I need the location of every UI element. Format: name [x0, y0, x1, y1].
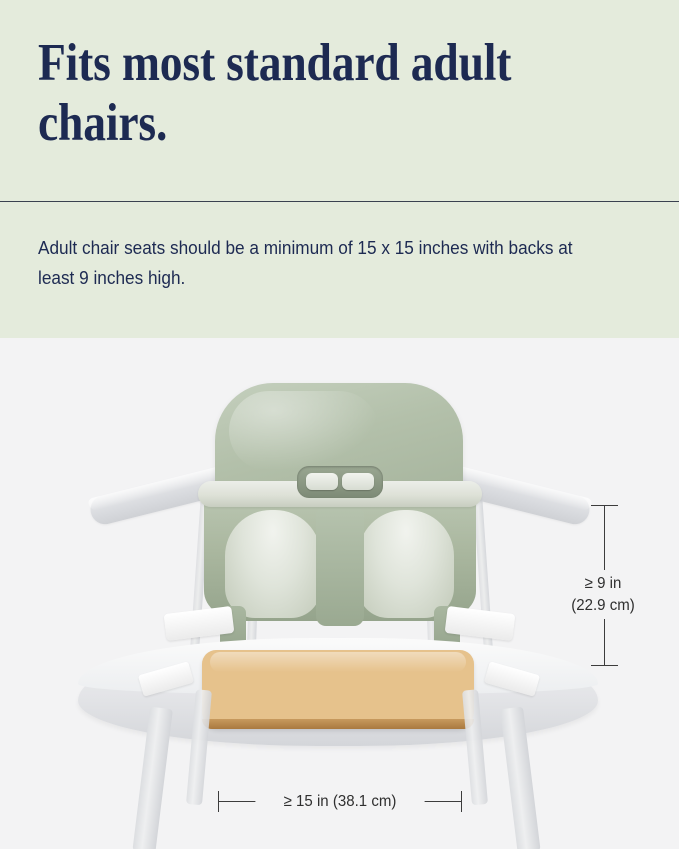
panel-description: Adult chair seats should be a minimum of…	[38, 233, 596, 293]
height-dimension-cap-bottom	[591, 665, 618, 666]
harness-buckle	[297, 466, 383, 498]
width-dimension-cap-right	[461, 791, 462, 812]
height-dimension-value: ≥ 9 in	[551, 573, 654, 595]
height-dimension-metric: (22.9 cm)	[551, 595, 654, 617]
height-dimension-label: ≥ 9 in (22.9 cm)	[551, 570, 654, 619]
baby-seat-leg-opening-right	[358, 510, 454, 618]
height-dimension-cap-top	[591, 505, 618, 506]
baby-seat-center-divider	[316, 506, 364, 626]
width-dimension-label: ≥ 15 in (38.1 cm)	[255, 789, 424, 815]
panel-divider	[0, 201, 679, 202]
wooden-board-highlight	[210, 652, 466, 672]
info-panel: Fits most standard adult chairs. Adult c…	[0, 0, 679, 338]
seat-highlight	[229, 391, 379, 471]
width-dimension-cap-left	[218, 791, 219, 812]
baby-seat-leg-opening-left	[225, 510, 321, 618]
wooden-board-edge	[202, 719, 474, 729]
wooden-base-board	[202, 650, 474, 728]
page-title: Fits most standard adult chairs.	[38, 34, 554, 154]
buckle-tab-right	[342, 473, 374, 490]
product-info-card: Fits most standard adult chairs. Adult c…	[0, 0, 679, 849]
buckle-tab-left	[306, 473, 338, 490]
